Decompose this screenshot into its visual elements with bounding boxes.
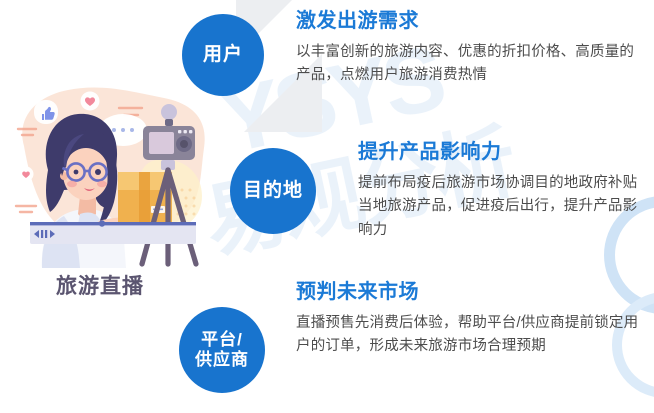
badge-platform-supplier-label-line1: 平台/ bbox=[195, 330, 249, 350]
body-platform-supplier: 直播预售先消费后体验，帮助平台/供应商提前锁定用户的订单，形成未来旅游市场合理预… bbox=[296, 312, 646, 359]
heading-platform-supplier: 预判未来市场 bbox=[296, 281, 646, 303]
heart-small-icon bbox=[19, 167, 34, 182]
travel-livestream-illustration bbox=[6, 72, 228, 268]
heading-destination: 提升产品影响力 bbox=[358, 141, 648, 163]
badge-platform-supplier[interactable]: 平台/ 供应商 bbox=[179, 307, 265, 393]
badge-user-label: 用户 bbox=[203, 44, 243, 66]
badge-destination-label: 目的地 bbox=[243, 180, 303, 202]
infographic-canvas: YSYS 易观分析 bbox=[0, 0, 654, 413]
stream-progress-bar bbox=[30, 220, 196, 244]
badge-user[interactable]: 用户 bbox=[182, 14, 264, 96]
illustration-caption: 旅游直播 bbox=[56, 270, 144, 300]
content-block-destination: 提升产品影响力 提前布局疫后旅游市场协调目的地政府补贴当地旅游产品，促进疫后出行… bbox=[358, 141, 648, 242]
thumbs-up-icon bbox=[34, 100, 58, 124]
badge-destination[interactable]: 目的地 bbox=[230, 148, 316, 234]
body-user: 以丰富创新的旅游内容、优惠的折扣价格、高质量的产品，点燃用户旅游消费热情 bbox=[296, 41, 644, 88]
badge-platform-supplier-label-line2: 供应商 bbox=[195, 350, 249, 370]
content-block-platform-supplier: 预判未来市场 直播预售先消费后体验，帮助平台/供应商提前锁定用户的订单，形成未来… bbox=[296, 281, 646, 359]
heart-icon bbox=[81, 92, 100, 111]
heading-user: 激发出游需求 bbox=[296, 10, 644, 32]
content-block-user: 激发出游需求 以丰富创新的旅游内容、优惠的折扣价格、高质量的产品，点燃用户旅游消… bbox=[296, 10, 644, 88]
body-destination: 提前布局疫后旅游市场协调目的地政府补贴当地旅游产品，促进疫后出行，提升产品影响力 bbox=[358, 172, 648, 242]
